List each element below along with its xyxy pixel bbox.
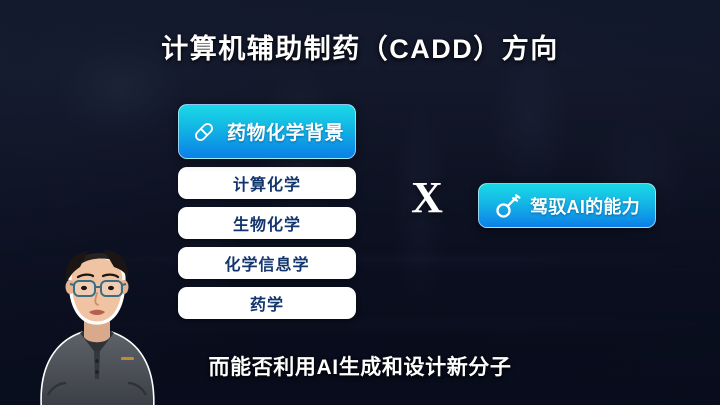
multiply-operator: X xyxy=(398,176,456,220)
card-drug-chemistry-background[interactable]: 药物化学背景 xyxy=(178,104,356,159)
list-item-label: 计算化学 xyxy=(233,171,301,195)
list-item[interactable]: 计算化学 xyxy=(178,167,356,199)
list-item-label: 生物化学 xyxy=(233,211,301,235)
card-ai-capability[interactable]: 驾驭AI的能力 xyxy=(478,183,656,228)
list-item[interactable]: 化学信息学 xyxy=(178,247,356,279)
pill-capsule-icon xyxy=(190,118,218,146)
card-label: 药物化学背景 xyxy=(227,118,344,145)
key-icon xyxy=(494,192,522,220)
list-item-label: 化学信息学 xyxy=(224,251,309,275)
presentation-slide: 计算机辅助制药（CADD）方向 药物化学背景 计算化学 生物化学 化学信息学 xyxy=(0,0,720,405)
list-item[interactable]: 生物化学 xyxy=(178,207,356,239)
left-column-group: 药物化学背景 计算化学 生物化学 化学信息学 药学 xyxy=(178,104,356,319)
presenter-video-cutout xyxy=(8,227,176,405)
list-item[interactable]: 药学 xyxy=(178,287,356,319)
list-item-label: 药学 xyxy=(250,291,284,315)
card-label: 驾驭AI的能力 xyxy=(530,193,640,219)
slide-title: 计算机辅助制药（CADD）方向 xyxy=(0,27,720,66)
